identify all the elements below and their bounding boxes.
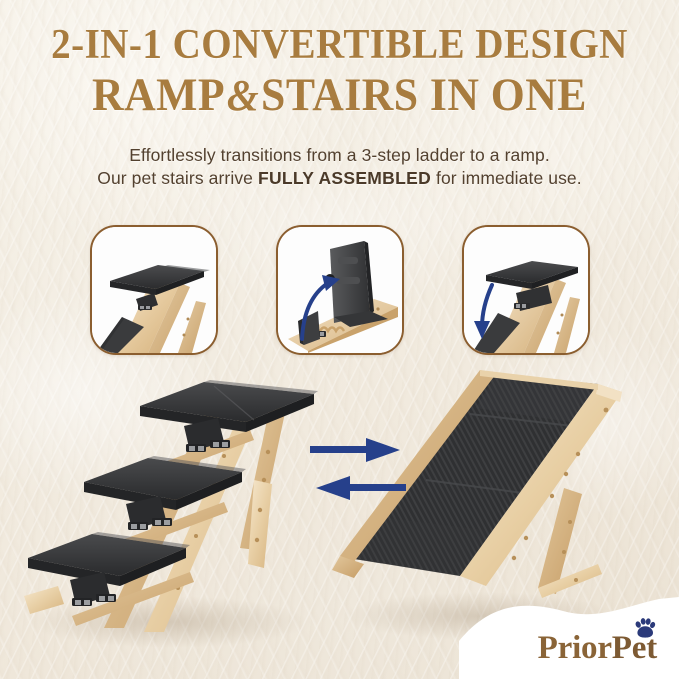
- headline-ampersand: &: [225, 71, 261, 120]
- thumbnail-step-3-image: [464, 227, 588, 353]
- pet-stairs-3-step-photo: [18, 360, 338, 650]
- arrow-left-icon: [316, 476, 406, 500]
- subheading-emphasis: FULLY ASSEMBLED: [258, 168, 431, 188]
- thumbnail-step-1-image: [92, 227, 216, 353]
- instruction-thumbnails: [0, 225, 679, 355]
- headline-line-2-before: RAMP: [92, 69, 225, 121]
- subheading-line-2-after: for immediate use.: [431, 168, 582, 188]
- brand-logo[interactable]: PriorPet: [538, 632, 657, 665]
- thumbnail-step-1[interactable]: [90, 225, 218, 355]
- thumbnail-step-2[interactable]: [276, 225, 404, 355]
- step-panel-folding-up-illustration: [278, 227, 402, 353]
- step-panel-flat-illustration: [92, 227, 216, 353]
- headline-line-2: RAMP&STAIRS IN ONE: [24, 72, 655, 119]
- product-marketing-image: 2-IN-1 CONVERTIBLE DESIGN RAMP&STAIRS IN…: [0, 0, 679, 679]
- thumbnail-step-2-image: [278, 227, 402, 353]
- conversion-arrows: [308, 434, 408, 506]
- thumbnail-step-3[interactable]: [462, 225, 590, 355]
- paw-print-icon: [634, 618, 656, 638]
- brand-name-part-1: Prior: [538, 630, 612, 666]
- headline-block: 2-IN-1 CONVERTIBLE DESIGN RAMP&STAIRS IN…: [0, 24, 679, 119]
- subheading-line-2-before: Our pet stairs arrive: [97, 168, 258, 188]
- subheading-block: Effortlessly transitions from a 3-step l…: [0, 144, 679, 190]
- subheading-line-2: Our pet stairs arrive FULLY ASSEMBLED fo…: [0, 167, 679, 190]
- arrow-right-icon: [310, 438, 400, 462]
- headline-line-1: 2-IN-1 CONVERTIBLE DESIGN: [24, 24, 655, 66]
- headline-line-2-after: STAIRS IN ONE: [261, 69, 587, 121]
- step-panel-folding-down-illustration: [464, 227, 588, 353]
- arrows-svg: [308, 434, 408, 506]
- subheading-line-1: Effortlessly transitions from a 3-step l…: [0, 144, 679, 167]
